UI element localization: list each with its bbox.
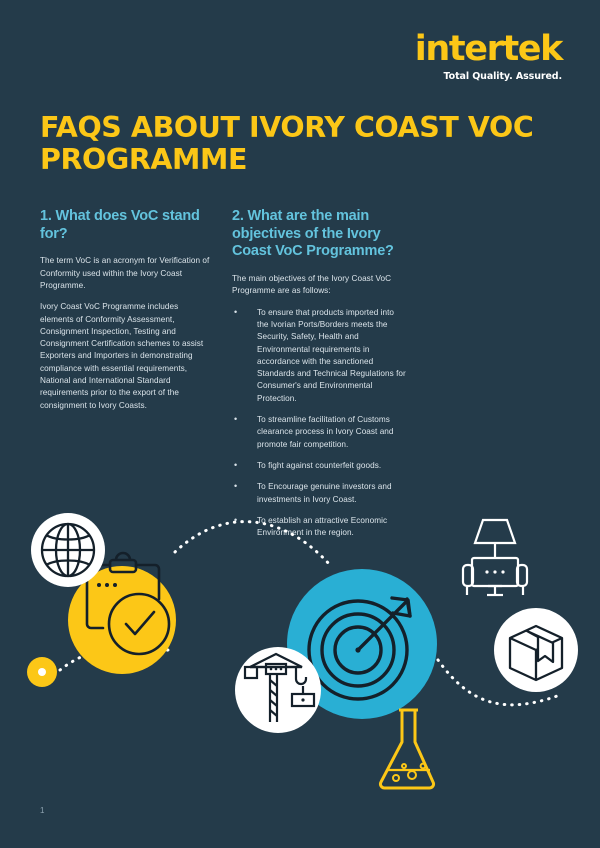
illustration-graphics	[0, 470, 600, 800]
logo-tagline: Total Quality. Assured.	[415, 72, 562, 82]
faq-heading-2: 2. What are the main objectives of the I…	[232, 208, 407, 261]
globe-icon	[42, 524, 94, 576]
list-item: To streamline facilitation of Customs cl…	[232, 414, 407, 451]
faq-intro: The main objectives of the Ivory Coast V…	[232, 273, 407, 298]
small-dot-center	[38, 668, 46, 676]
page-number: 1	[40, 806, 44, 815]
faq-paragraph: The term VoC is an acronym for Verificat…	[40, 255, 210, 292]
document-page: intertek Total Quality. Assured. FAQs ab…	[0, 0, 600, 848]
faq-heading-1: 1. What does VoC stand for?	[40, 208, 210, 243]
list-item: To ensure that products imported into th…	[232, 307, 407, 405]
dotted-path-top	[175, 522, 330, 565]
sofa-lamp-icon	[463, 520, 527, 595]
intertek-logo: intertek Total Quality. Assured.	[415, 32, 562, 82]
faq-paragraph: Ivory Coast VoC Programme includes eleme…	[40, 301, 210, 412]
flask-icon	[380, 710, 433, 788]
logo-wordmark: intertek	[415, 32, 562, 67]
page-title: FAQs about Ivory Coast VoC Programme	[40, 112, 560, 176]
